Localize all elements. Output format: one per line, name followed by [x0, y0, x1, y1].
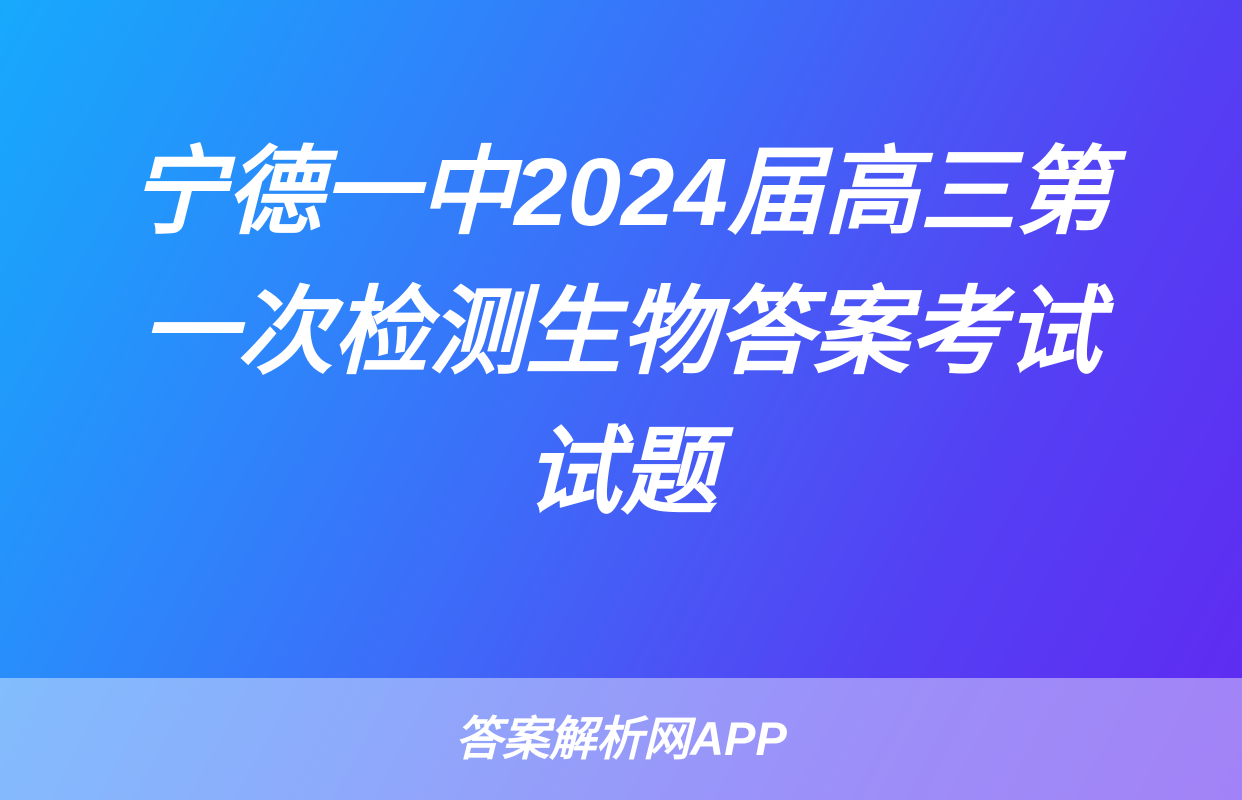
watermark-app-label: 答案解析网APP: [455, 715, 787, 762]
page-title: 宁德一中2024届高三第一次检测生物答案考试试题: [98, 123, 1144, 543]
poster-canvas: 宁德一中2024届高三第一次检测生物答案考试试题 答案解析网APP: [0, 0, 1242, 800]
watermark-band: 答案解析网APP: [0, 678, 1242, 800]
title-band: 宁德一中2024届高三第一次检测生物答案考试试题: [0, 0, 1242, 678]
